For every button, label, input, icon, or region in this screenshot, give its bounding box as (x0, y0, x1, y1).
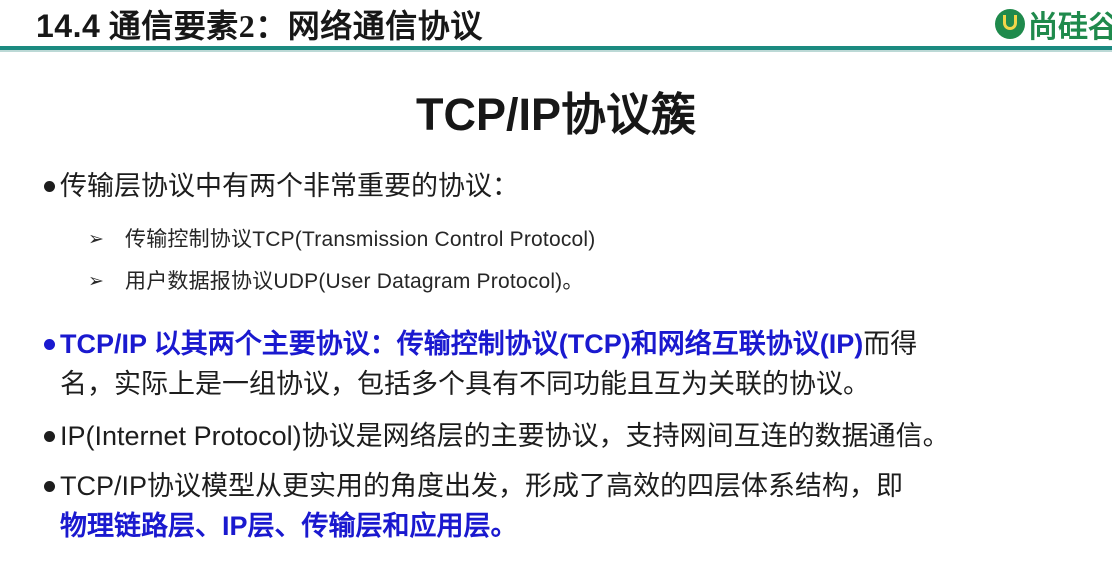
bullet-3-latin: IP(Internet Protocol) (60, 421, 302, 451)
bullet-3-cjk: 协议是网络层的主要协议，支持网间互连的数据通信。 (302, 421, 950, 451)
sub-bullet-2-cjk: 用户数据报协议 (125, 269, 273, 293)
bullet-1-text: 传输层协议中有两个非常重要的协议： (60, 166, 1094, 206)
bullet-2-cjk-1: 以其两个主要协议：传输控制协议 (147, 329, 559, 359)
atguigu-u-icon (995, 9, 1025, 39)
sub-bullet-1-latin: TCP(Transmission Control Protocol) (252, 228, 595, 251)
bullet-4-latin: TCP/IP (60, 471, 147, 501)
bullet-item-1: 传输层协议中有两个非常重要的协议： (0, 166, 1094, 206)
sub-bullet-item-2: ➢ 用户数据报协议UDP(User Datagram Protocol)。 (0, 266, 980, 297)
header-section-title: 14.4 通信要素2：网络通信协议 (36, 1, 483, 47)
bullet-item-4: TCP/IP协议模型从更实用的角度出发，形成了高效的四层体系结构，即 物理链路层… (0, 466, 1094, 546)
bullet-4-line2-part1: 物理链路层、 (60, 511, 222, 541)
bullet-dot-icon (44, 339, 55, 350)
page-title-cjk: 协议簇 (561, 90, 696, 140)
bullet-4-cjk: 协议模型从更实用的角度出发，形成了高效的四层体系结构，即 (147, 471, 903, 501)
bullet-2-latin-tcpip: TCP/IP (60, 329, 147, 359)
bullet-4-text: TCP/IP协议模型从更实用的角度出发，形成了高效的四层体系结构，即 (60, 466, 1094, 506)
bullet-4-line2-part2: 层、传输层和应用层。 (248, 511, 518, 541)
slide-root: 14.4 通信要素2：网络通信协议 尚硅谷 TCP/IP协议簇 传输层协议中有两… (0, 0, 1112, 569)
bullet-4-line2: 物理链路层、IP层、传输层和应用层。 (60, 506, 1094, 546)
brand-logo: 尚硅谷 (995, 4, 1112, 44)
header-section-number: 14.4 (36, 8, 100, 44)
bullet-3-text: IP(Internet Protocol)协议是网络层的主要协议，支持网间互连的… (60, 416, 1094, 456)
arrow-right-icon: ➢ (88, 270, 104, 292)
bullet-2-tail: 而得 (863, 329, 917, 359)
bullet-2-text: TCP/IP 以其两个主要协议：传输控制协议(TCP)和网络互联协议(IP)而得 (60, 324, 1094, 364)
brand-logo-text: 尚硅谷 (1028, 4, 1112, 44)
bullet-2-highlight: TCP/IP 以其两个主要协议：传输控制协议(TCP)和网络互联协议(IP) (60, 329, 863, 359)
bullet-2-latin-tcp: (TCP) (559, 329, 631, 359)
page-title-latin: TCP/IP (416, 89, 561, 140)
sub-bullet-1-text: 传输控制协议TCP(Transmission Control Protocol) (125, 224, 980, 255)
bullet-2-cjk-2: 和网络互联协议 (631, 329, 820, 359)
bullet-dot-icon (44, 481, 55, 492)
bullet-2-line2: 名，实际上是一组协议，包括多个具有不同功能且互为关联的协议。 (60, 364, 1094, 404)
bullet-item-2: TCP/IP 以其两个主要协议：传输控制协议(TCP)和网络互联协议(IP)而得… (0, 324, 1094, 404)
arrow-right-icon: ➢ (88, 228, 104, 250)
sub-bullet-item-1: ➢ 传输控制协议TCP(Transmission Control Protoco… (0, 224, 980, 255)
bullet-dot-icon (44, 181, 55, 192)
sub-bullet-2-tail: 。 (562, 269, 583, 293)
header-divider-soft (0, 50, 1112, 52)
bullet-2-latin-ip: (IP) (820, 329, 864, 359)
slide-header: 14.4 通信要素2：网络通信协议 尚硅谷 (0, 0, 1112, 48)
sub-bullet-2-latin: UDP(User Datagram Protocol) (273, 270, 562, 293)
bullet-4-line2-ip: IP (222, 511, 248, 541)
bullet-dot-icon (44, 431, 55, 442)
sub-bullet-2-text: 用户数据报协议UDP(User Datagram Protocol)。 (125, 266, 980, 297)
sub-bullet-1-cjk: 传输控制协议 (125, 227, 252, 251)
page-title: TCP/IP协议簇 (0, 78, 1112, 143)
header-section-text: 通信要素2：网络通信协议 (109, 8, 483, 44)
bullet-item-3: IP(Internet Protocol)协议是网络层的主要协议，支持网间互连的… (0, 416, 1094, 456)
